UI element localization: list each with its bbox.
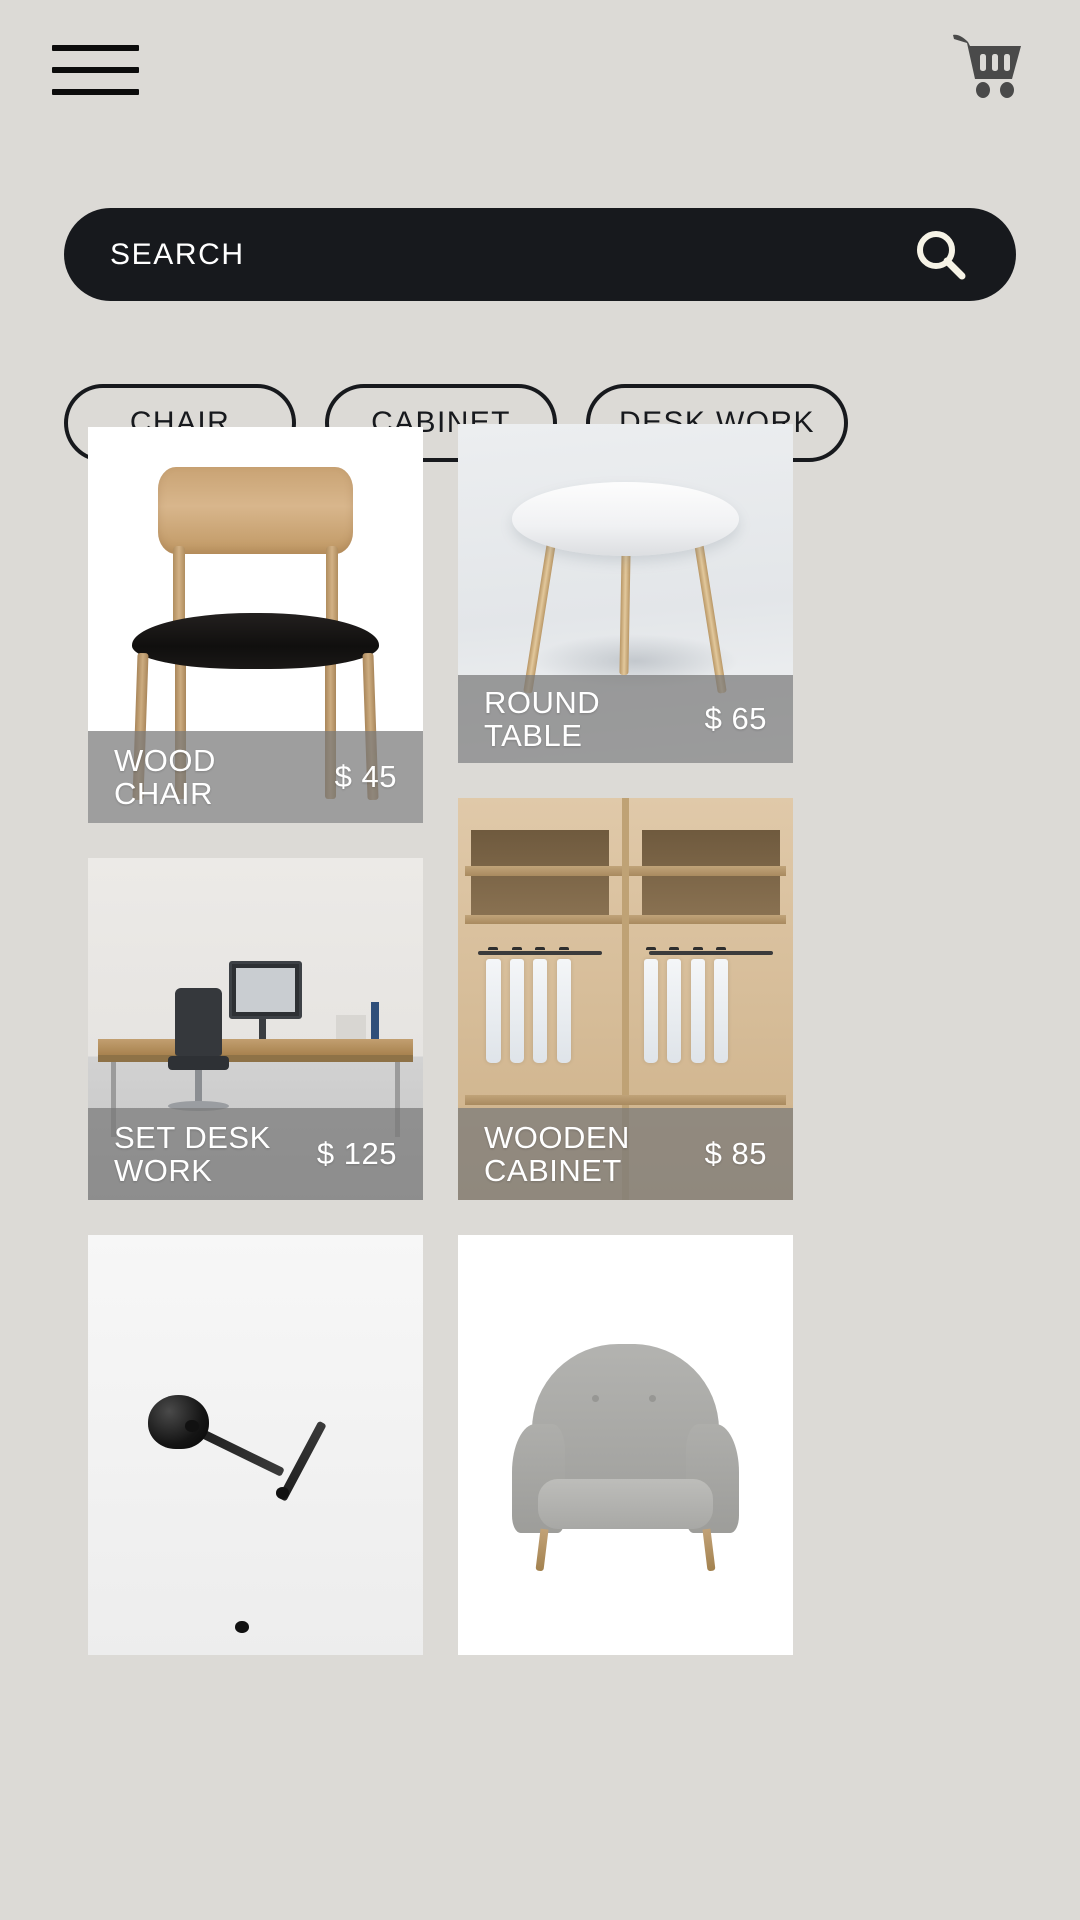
- product-price: $ 45: [335, 759, 397, 795]
- product-price: $ 65: [705, 701, 767, 737]
- product-card-wooden-cabinet[interactable]: WOODEN CABINET $ 85: [458, 798, 793, 1200]
- product-card-set-desk-work[interactable]: SET DESK WORK $ 125: [88, 858, 423, 1200]
- product-grid: WOOD CHAIR $ 45 ROUND TABLE $ 65: [0, 0, 1080, 1920]
- product-label-band: ROUND TABLE $ 65: [458, 675, 793, 763]
- product-label-band: WOOD CHAIR $ 45: [88, 731, 423, 823]
- product-label-band: WOODEN CABINET $ 85: [458, 1108, 793, 1200]
- product-card-gray-armchair[interactable]: [458, 1235, 793, 1655]
- product-image-desk-lamp: [88, 1235, 423, 1655]
- product-card-wood-chair[interactable]: WOOD CHAIR $ 45: [88, 427, 423, 823]
- product-image-gray-armchair: [458, 1235, 793, 1655]
- product-name: SET DESK WORK: [114, 1121, 271, 1188]
- product-price: $ 125: [317, 1136, 397, 1172]
- product-name: WOOD CHAIR: [114, 744, 216, 811]
- product-card-round-table[interactable]: ROUND TABLE $ 65: [458, 424, 793, 763]
- product-name: WOODEN CABINET: [484, 1121, 630, 1188]
- product-price: $ 85: [705, 1136, 767, 1172]
- product-label-band: SET DESK WORK $ 125: [88, 1108, 423, 1200]
- product-card-desk-lamp[interactable]: [88, 1235, 423, 1655]
- product-name: ROUND TABLE: [484, 686, 600, 753]
